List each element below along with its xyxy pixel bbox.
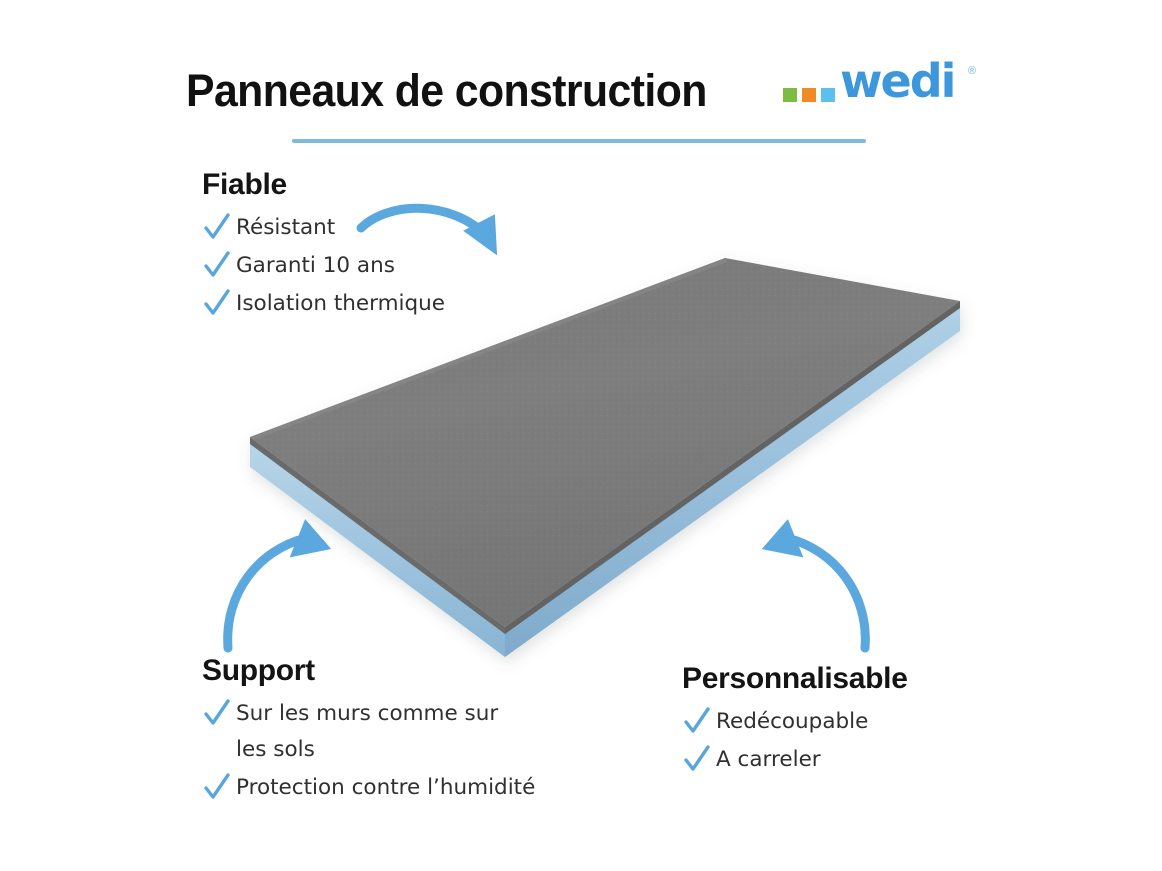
feature-block-support: Support Sur les murs comme sur les sols … <box>202 656 562 808</box>
board-foam-right-face <box>505 306 960 657</box>
check-icon <box>202 250 232 282</box>
curved-arrow-up-right-icon <box>210 520 350 655</box>
product-board-illustration <box>0 0 1162 871</box>
feature-item-label: Redécoupable <box>716 704 868 740</box>
logo-square-green-icon <box>783 88 797 102</box>
check-icon <box>682 744 712 776</box>
check-icon <box>202 772 232 804</box>
feature-item: Protection contre l’humidité <box>202 770 562 806</box>
feature-item: A carreler <box>682 742 982 778</box>
logo-wordmark: wedi <box>840 58 954 104</box>
curved-arrow-up-left-icon <box>745 520 885 655</box>
logo-registered-mark: ® <box>968 65 976 77</box>
check-icon <box>202 288 232 320</box>
feature-block-personnalisable: Personnalisable Redécoupable A carreler <box>682 664 982 780</box>
feature-item: Redécoupable <box>682 704 982 740</box>
feature-item: Sur les murs comme sur les sols <box>202 696 562 768</box>
check-icon <box>202 212 232 244</box>
feature-item-label: Résistant <box>236 210 335 246</box>
infographic-canvas: Panneaux de construction wedi ® <box>0 0 1162 871</box>
feature-heading-fiable: Fiable <box>202 170 532 200</box>
feature-item-label: Sur les murs comme sur les sols <box>236 696 498 768</box>
check-icon <box>202 698 232 730</box>
feature-item: Résistant <box>202 210 532 246</box>
feature-item-label: Protection contre l’humidité <box>236 770 535 806</box>
feature-item: Isolation thermique <box>202 286 532 322</box>
feature-item-label: Garanti 10 ans <box>236 248 395 284</box>
wedi-logo: wedi ® <box>783 63 983 115</box>
feature-item: Garanti 10 ans <box>202 248 532 284</box>
page-title: Panneaux de construction <box>186 68 707 113</box>
feature-heading-personnalisable: Personnalisable <box>682 664 982 694</box>
title-divider <box>292 139 866 143</box>
feature-item-label: Isolation thermique <box>236 286 445 322</box>
feature-item-label: A carreler <box>716 742 821 778</box>
check-icon <box>682 706 712 738</box>
logo-square-blue-icon <box>821 88 835 102</box>
feature-heading-support: Support <box>202 656 562 686</box>
logo-square-orange-icon <box>802 88 816 102</box>
board-cement-right-edge <box>505 301 960 634</box>
feature-block-fiable: Fiable Résistant Garanti 10 ans <box>202 170 532 324</box>
